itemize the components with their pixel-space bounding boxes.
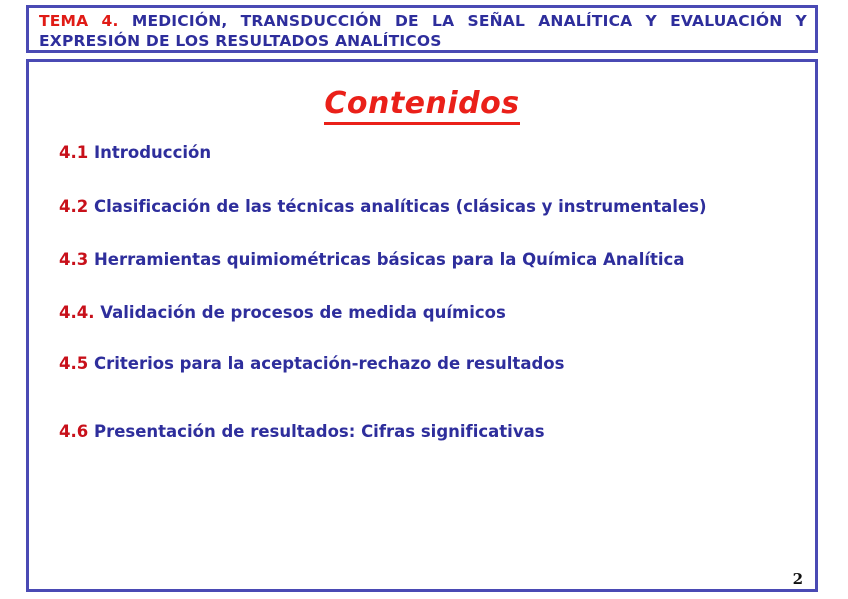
toc-label: Clasificación de las técnicas analíticas… — [94, 197, 707, 216]
table-of-contents: 4.1 Introducción 4.2 Clasificación de la… — [59, 140, 797, 444]
toc-label: Presentación de resultados: Cifras signi… — [94, 422, 545, 441]
toc-item-4-2: 4.2 Clasificación de las técnicas analít… — [59, 194, 797, 219]
header-title-text: MEDICIÓN, TRANSDUCCIÓN DE LA SEÑAL ANALÍ… — [39, 12, 807, 50]
toc-item-4-5: 4.5 Criterios para la aceptación-rechazo… — [59, 351, 797, 376]
slide-header-box: TEMA 4. MEDICIÓN, TRANSDUCCIÓN DE LA SEÑ… — [26, 5, 818, 53]
toc-item-4-3: 4.3 Herramientas quimiométricas básicas … — [59, 247, 797, 272]
toc-label: Herramientas quimiométricas básicas para… — [94, 250, 684, 269]
toc-item-4-6: 4.6 Presentación de resultados: Cifras s… — [59, 419, 797, 444]
toc-label: Introducción — [94, 143, 211, 162]
toc-label: Criterios para la aceptación-rechazo de … — [94, 354, 564, 373]
page-title-label: Contenidos — [324, 86, 519, 125]
page-title: Contenidos — [29, 86, 815, 121]
page-number: 2 — [793, 570, 803, 588]
toc-item-4-4: 4.4. Validación de procesos de medida qu… — [59, 300, 797, 325]
toc-number: 4.3 — [59, 250, 88, 269]
tema-label: TEMA 4. — [39, 12, 119, 30]
toc-label: Validación de procesos de medida químico… — [100, 303, 506, 322]
toc-number: 4.2 — [59, 197, 88, 216]
toc-number: 4.5 — [59, 354, 88, 373]
slide: TEMA 4. MEDICIÓN, TRANSDUCCIÓN DE LA SEÑ… — [0, 0, 848, 599]
slide-body-box: Contenidos 4.1 Introducción 4.2 Clasific… — [26, 59, 818, 592]
slide-header-text: TEMA 4. MEDICIÓN, TRANSDUCCIÓN DE LA SEÑ… — [39, 11, 807, 51]
toc-item-4-1: 4.1 Introducción — [59, 140, 797, 165]
toc-number: 4.6 — [59, 422, 88, 441]
toc-number: 4.4. — [59, 303, 95, 322]
toc-number: 4.1 — [59, 143, 88, 162]
